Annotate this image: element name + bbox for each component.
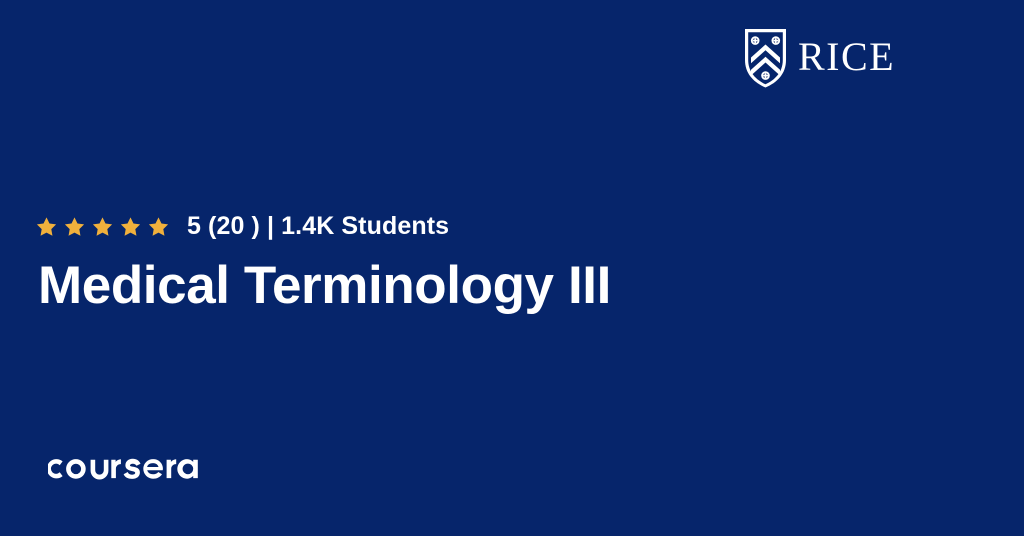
star-rating bbox=[36, 216, 169, 237]
platform-logo: coursera bbox=[48, 446, 214, 486]
star-filled-icon bbox=[64, 216, 85, 237]
rice-shield-icon bbox=[743, 27, 788, 89]
university-wordmark: RICE bbox=[798, 37, 895, 80]
star-filled-icon bbox=[36, 216, 57, 237]
coursera-wordmark-icon bbox=[48, 449, 214, 483]
star-filled-icon bbox=[92, 216, 113, 237]
star-filled-icon bbox=[120, 216, 141, 237]
star-filled-icon bbox=[148, 216, 169, 237]
rating-row: 5 (20 ) | 1.4K Students bbox=[36, 209, 449, 243]
course-banner: RICE 5 (20 ) | 1.4K Students Medical Ter… bbox=[0, 0, 1024, 536]
course-title: Medical Terminology III bbox=[38, 256, 611, 317]
university-logo: RICE bbox=[743, 27, 895, 89]
rating-summary-text: 5 (20 ) | 1.4K Students bbox=[187, 214, 449, 239]
